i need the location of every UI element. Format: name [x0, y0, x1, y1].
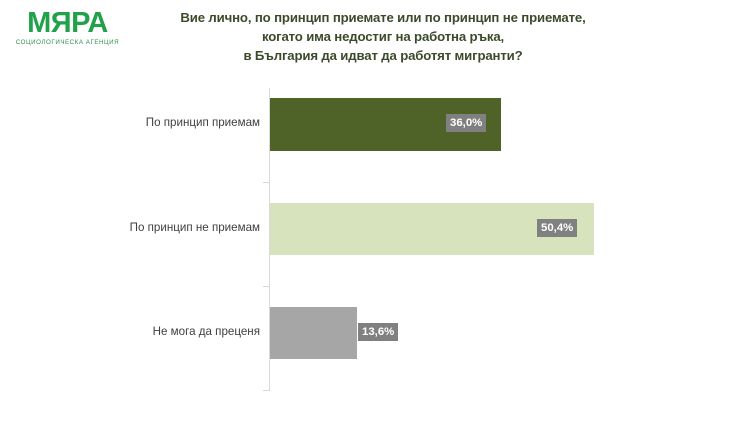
- value-label-1: 50,4%: [537, 219, 577, 237]
- axis-tick-3: [263, 390, 269, 391]
- category-label-0: По принцип приемам: [60, 116, 260, 129]
- bar-chart: По принцип приемам 36,0% По принцип не п…: [0, 0, 752, 423]
- axis-tick-1: [263, 182, 269, 183]
- category-label-1: По принцип не приемам: [60, 221, 260, 234]
- axis-tick-2: [263, 286, 269, 287]
- bar-series-2: [270, 307, 357, 359]
- category-label-2: Не мога да преценя: [60, 325, 260, 338]
- value-label-2: 13,6%: [358, 323, 398, 341]
- value-label-0: 36,0%: [446, 114, 486, 132]
